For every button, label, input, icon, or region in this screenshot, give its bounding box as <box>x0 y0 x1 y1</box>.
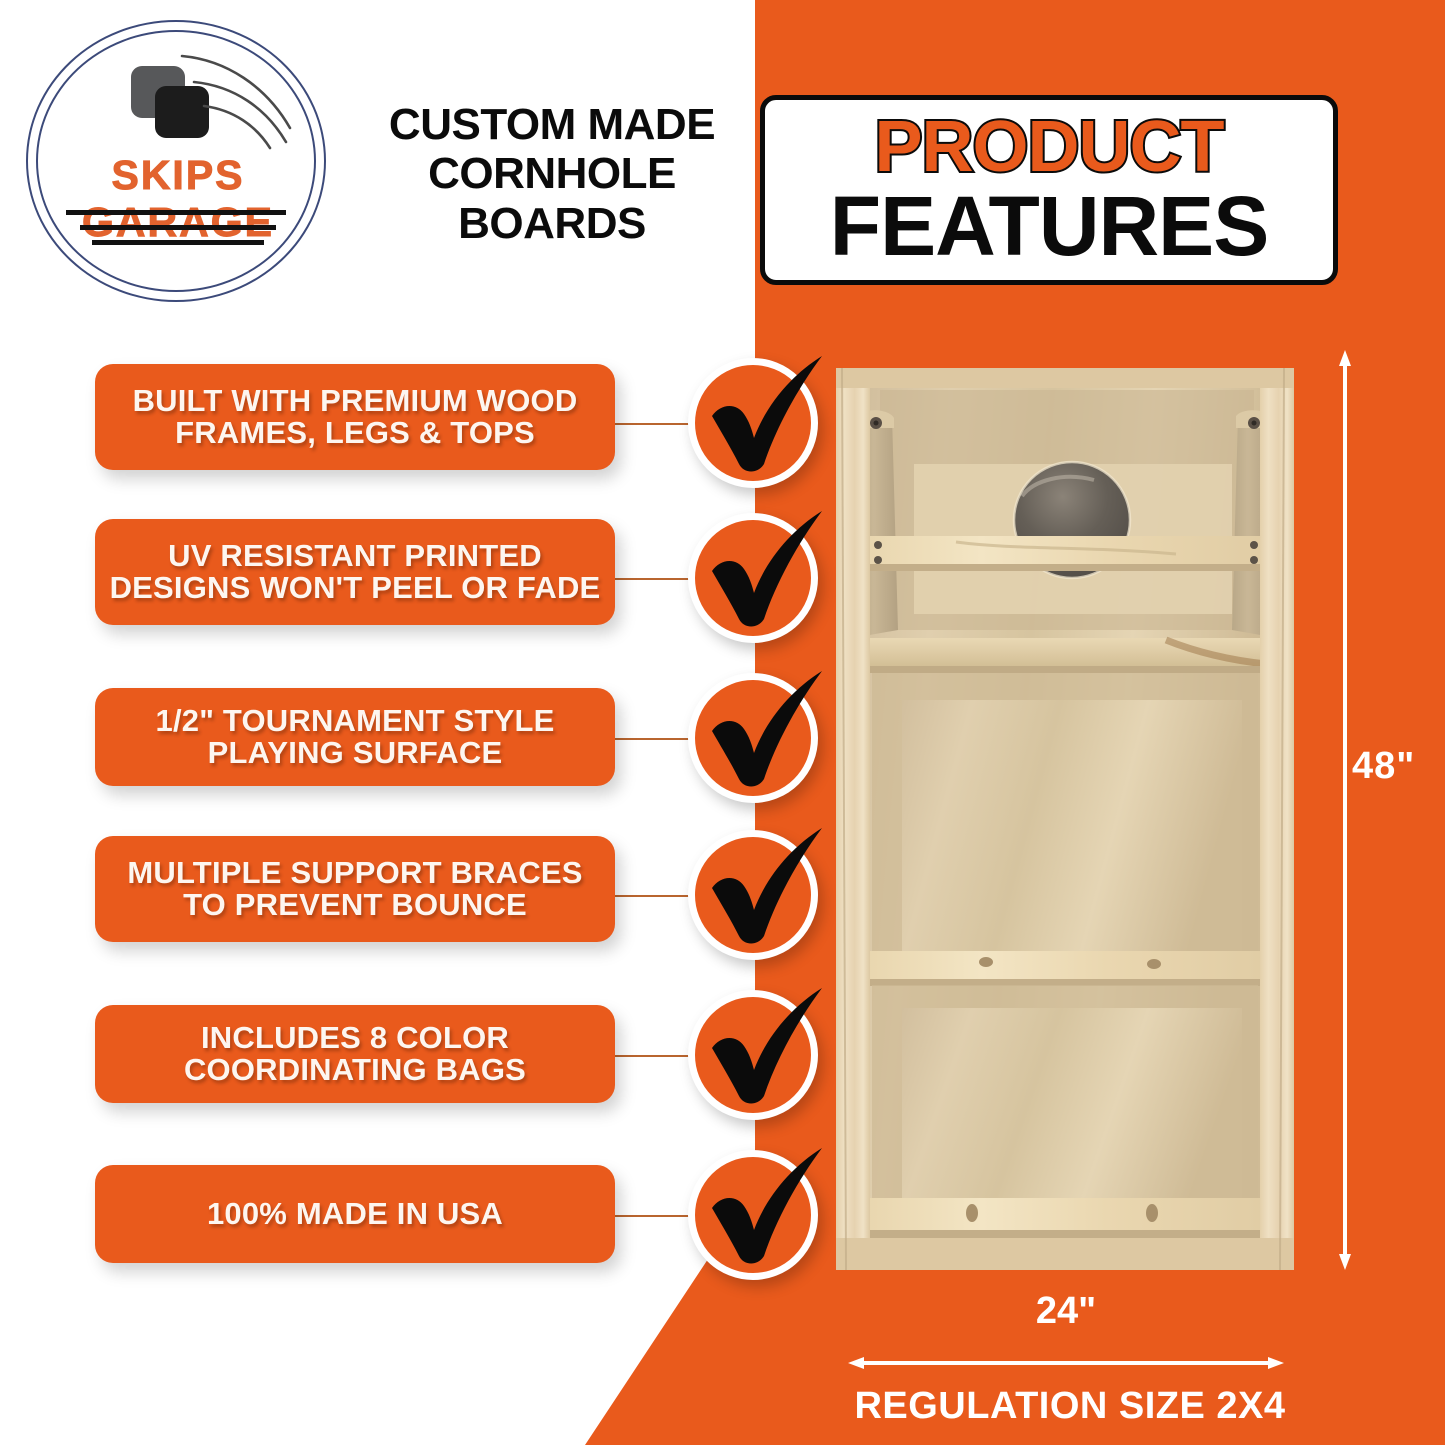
check-circle <box>688 673 818 803</box>
feature-row: BUILT WITH PREMIUM WOOD FRAMES, LEGS & T… <box>0 358 830 508</box>
feature-pill-label: INCLUDES 8 COLOR COORDINATING BAGS <box>109 1022 601 1086</box>
height-dimension-label: 48" <box>1352 745 1415 788</box>
feature-pill[interactable]: 1/2" TOURNAMENT STYLE PLAYING SURFACE <box>95 688 615 786</box>
logo-wordmark: SKIPS GARAGE <box>18 152 338 246</box>
feature-pill[interactable]: 100% MADE IN USA <box>95 1165 615 1263</box>
feature-pill[interactable]: UV RESISTANT PRINTED DESIGNS WON'T PEEL … <box>95 519 615 625</box>
width-dimension-label: 24" <box>848 1290 1284 1333</box>
feature-check-badge <box>688 830 818 960</box>
feature-pill-label: MULTIPLE SUPPORT BRACES TO PREVENT BOUNC… <box>109 857 601 921</box>
feature-pill[interactable]: MULTIPLE SUPPORT BRACES TO PREVENT BOUNC… <box>95 836 615 942</box>
feature-pill[interactable]: INCLUDES 8 COLOR COORDINATING BAGS <box>95 1005 615 1103</box>
width-dimension-arrow <box>848 1356 1284 1370</box>
feature-pill-label: BUILT WITH PREMIUM WOOD FRAMES, LEGS & T… <box>109 385 601 449</box>
feature-check-badge <box>688 1150 818 1280</box>
check-circle <box>688 830 818 960</box>
feature-check-badge <box>688 673 818 803</box>
page-title: CUSTOM MADE CORNHOLE BOARDS <box>352 100 752 248</box>
motion-swoosh-icon <box>178 50 298 150</box>
height-dimension-arrow <box>1338 350 1352 1270</box>
brand-logo: SKIPS GARAGE <box>18 14 338 304</box>
regulation-size-note: REGULATION SIZE 2X4 <box>770 1385 1370 1428</box>
feature-row: INCLUDES 8 COLOR COORDINATING BAGS <box>0 993 830 1143</box>
check-circle <box>688 513 818 643</box>
logo-rule <box>80 225 276 230</box>
feature-row: 100% MADE IN USA <box>0 1153 830 1303</box>
infographic-canvas: SKIPS GARAGE CUSTOM MADE CORNHOLE BOARDS… <box>0 0 1445 1445</box>
feature-check-badge <box>688 358 818 488</box>
check-circle <box>688 358 818 488</box>
cornhole-board-photo <box>836 368 1294 1270</box>
feature-pill-label: 100% MADE IN USA <box>207 1198 503 1230</box>
banner-line-product: PRODUCT <box>765 106 1333 188</box>
feature-pill-label: UV RESISTANT PRINTED DESIGNS WON'T PEEL … <box>109 540 601 604</box>
check-circle <box>688 990 818 1120</box>
feature-pill[interactable]: BUILT WITH PREMIUM WOOD FRAMES, LEGS & T… <box>95 364 615 470</box>
product-features-banner: PRODUCT FEATURES <box>760 95 1338 285</box>
check-circle <box>688 1150 818 1280</box>
feature-check-badge <box>688 513 818 643</box>
logo-rule <box>66 210 286 215</box>
feature-row: MULTIPLE SUPPORT BRACES TO PREVENT BOUNC… <box>0 830 830 980</box>
feature-row: UV RESISTANT PRINTED DESIGNS WON'T PEEL … <box>0 513 830 663</box>
feature-check-badge <box>688 990 818 1120</box>
banner-line-features: FEATURES <box>765 178 1333 275</box>
logo-rule <box>92 240 264 245</box>
feature-pill-label: 1/2" TOURNAMENT STYLE PLAYING SURFACE <box>109 705 601 769</box>
feature-row: 1/2" TOURNAMENT STYLE PLAYING SURFACE <box>0 676 830 826</box>
